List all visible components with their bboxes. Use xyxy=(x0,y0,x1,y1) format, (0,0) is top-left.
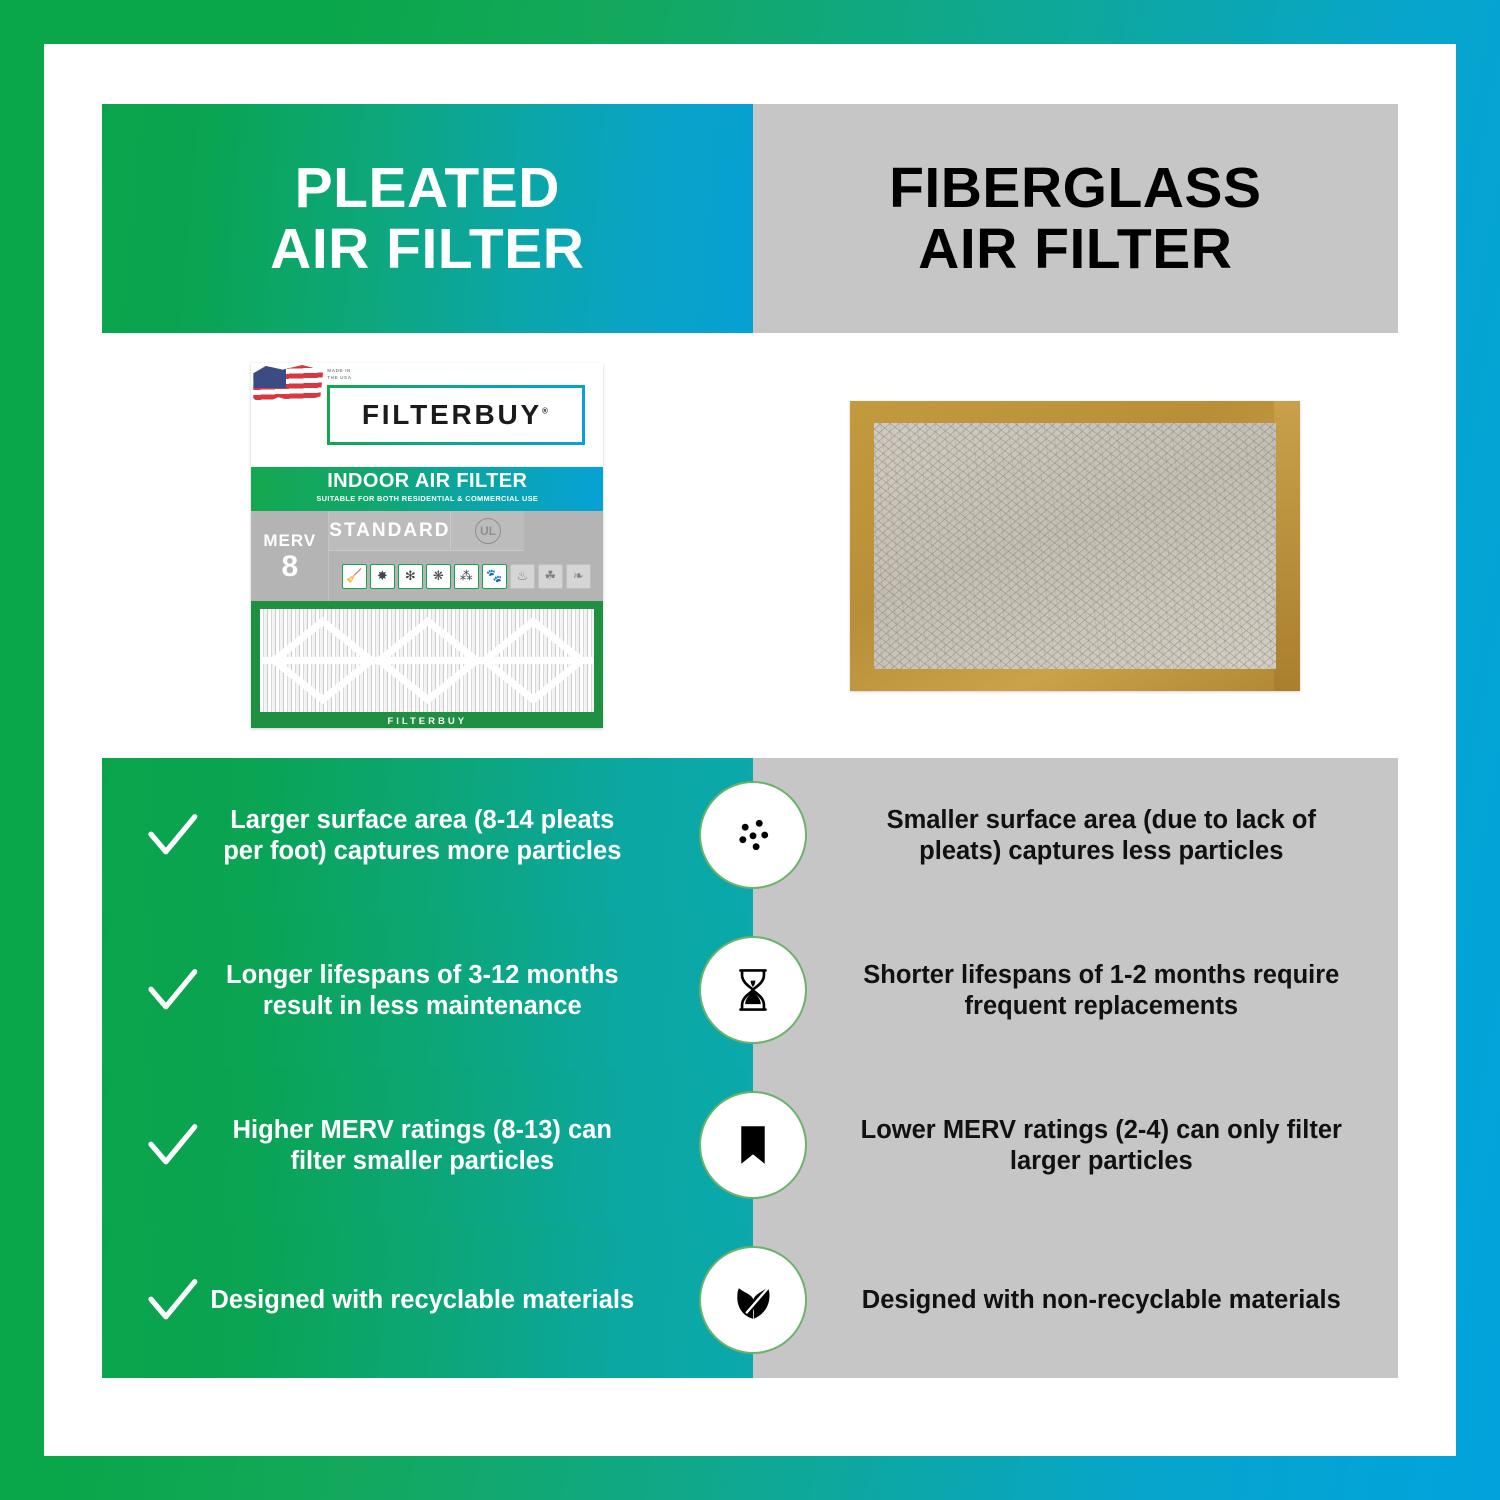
header-row: PLEATED AIR FILTER FIBERGLASS AIR FILTER xyxy=(102,104,1398,333)
row-3-pleated-text: Higher MERV ratings (8-13) can filter sm… xyxy=(208,1115,727,1176)
checkmark-icon xyxy=(136,808,208,864)
pleated-media-area: FILTERBUY xyxy=(251,601,603,728)
header-pleated-line2: AIR FILTER xyxy=(270,217,584,281)
fiberglass-mesh-texture xyxy=(874,423,1276,669)
band-title: INDOOR AIR FILTER xyxy=(251,470,603,493)
pleat-media-texture xyxy=(260,609,594,712)
fiberglass-filter-image xyxy=(850,401,1300,691)
dust-mite-icon: ✸ xyxy=(370,564,395,589)
merv-label: MERV xyxy=(263,531,316,551)
white-sheet: PLEATED AIR FILTER FIBERGLASS AIR FILTER xyxy=(44,44,1456,1456)
ul-certification-icon: UL xyxy=(450,511,524,551)
row-4-fiberglass-text: Designed with non-recyclable materials xyxy=(849,1285,1354,1316)
dust-mop-icon: 🧹 xyxy=(342,564,367,589)
filterbuy-wordmark: FILTERBUY® xyxy=(362,399,551,431)
made-in-usa-text: MADE IN THE USA xyxy=(327,368,351,382)
row-3-fiberglass-text: Lower MERV ratings (2-4) can only filter… xyxy=(849,1115,1354,1176)
row-2-pleated-text: Longer lifespans of 3-12 months result i… xyxy=(208,960,727,1021)
row-2-fiberglass-text: Shorter lifespans of 1-2 months require … xyxy=(849,960,1354,1021)
checkmark-icon xyxy=(136,1273,208,1329)
merv-value: 8 xyxy=(281,552,298,582)
spec-right: STANDARD UL 🧹 ✸ ✻ ❋ ⁂ xyxy=(329,511,603,601)
comparison-infographic: PLEATED AIR FILTER FIBERGLASS AIR FILTER xyxy=(102,104,1398,1396)
bacteria-icon: ⁂ xyxy=(454,564,479,589)
pollen-icon: ✻ xyxy=(398,564,423,589)
smoke-icon: ♨ xyxy=(510,564,535,589)
ul-mark: UL xyxy=(475,518,501,544)
row-fiberglass-2: Shorter lifespans of 1-2 months require … xyxy=(753,913,1398,1068)
row-pleated-3: Higher MERV ratings (8-13) can filter sm… xyxy=(102,1068,753,1223)
filterbuy-logo-box: FILTERBUY® xyxy=(327,385,585,445)
row-4-pleated-text: Designed with recyclable materials xyxy=(208,1285,727,1316)
row-1-fiberglass-text: Smaller surface area (due to lack of ple… xyxy=(849,805,1354,866)
capability-icon-strip: 🧹 ✸ ✻ ❋ ⁂ 🐾 ♨ ☘ ❧ xyxy=(329,551,603,601)
band-subtitle: SUITABLE FOR BOTH RESIDENTIAL & COMMERCI… xyxy=(251,494,603,503)
pet-dander-icon: 🐾 xyxy=(482,564,507,589)
mold-icon: ❋ xyxy=(426,564,451,589)
product-image-row: MADE IN THE USA FILTERBUY® INDOOR AIR FI… xyxy=(102,333,1398,758)
pleated-label-top: MADE IN THE USA FILTERBUY® xyxy=(251,363,603,467)
made-in-line1: MADE IN xyxy=(327,368,351,375)
comparison-row: Larger surface area (8-14 pleats per foo… xyxy=(102,758,1398,913)
pleated-filter-image: MADE IN THE USA FILTERBUY® INDOOR AIR FI… xyxy=(251,363,603,728)
row-fiberglass-1: Smaller surface area (due to lack of ple… xyxy=(753,758,1398,913)
comparison-row: Designed with recyclable materials Desig… xyxy=(102,1223,1398,1378)
header-fiberglass-line1: FIBERGLASS xyxy=(889,156,1261,220)
header-fiberglass-line2: AIR FILTER xyxy=(918,217,1232,281)
checkmark-icon xyxy=(136,963,208,1019)
pleated-spec-panel: MERV 8 STANDARD UL 🧹 xyxy=(251,511,603,601)
header-pleated-line1: PLEATED xyxy=(295,156,560,220)
comparison-row: Higher MERV ratings (8-13) can filter sm… xyxy=(102,1068,1398,1223)
made-in-line2: THE USA xyxy=(327,375,351,382)
row-pleated-1: Larger surface area (8-14 pleats per foo… xyxy=(102,758,753,913)
row-fiberglass-4: Designed with non-recyclable materials xyxy=(753,1223,1398,1378)
fiberglass-product-cell xyxy=(753,333,1398,758)
header-pleated: PLEATED AIR FILTER xyxy=(102,104,753,333)
indoor-air-filter-band: INDOOR AIR FILTER SUITABLE FOR BOTH RESI… xyxy=(251,467,603,511)
outer-gradient-border: PLEATED AIR FILTER FIBERGLASS AIR FILTER xyxy=(0,0,1500,1500)
support-mesh-icon xyxy=(260,609,594,712)
row-pleated-4: Designed with recyclable materials xyxy=(102,1223,753,1378)
pleated-product-cell: MADE IN THE USA FILTERBUY® INDOOR AIR FI… xyxy=(102,333,753,758)
virus-icon: ☘ xyxy=(538,564,563,589)
comparison-row: Longer lifespans of 3-12 months result i… xyxy=(102,913,1398,1068)
pleated-footer-brand: FILTERBUY xyxy=(251,716,603,727)
grade-label: STANDARD xyxy=(329,511,450,551)
row-1-pleated-text: Larger surface area (8-14 pleats per foo… xyxy=(208,805,727,866)
grade-row: STANDARD UL xyxy=(329,511,603,551)
usa-flag-icon xyxy=(253,365,323,411)
odor-icon: ❧ xyxy=(566,564,591,589)
merv-block: MERV 8 xyxy=(251,511,329,601)
checkmark-icon xyxy=(136,1118,208,1174)
header-fiberglass: FIBERGLASS AIR FILTER xyxy=(753,104,1398,333)
row-pleated-2: Longer lifespans of 3-12 months result i… xyxy=(102,913,753,1068)
comparison-section: Larger surface area (8-14 pleats per foo… xyxy=(102,758,1398,1378)
row-fiberglass-3: Lower MERV ratings (2-4) can only filter… xyxy=(753,1068,1398,1223)
trademark-symbol: ® xyxy=(542,407,551,416)
